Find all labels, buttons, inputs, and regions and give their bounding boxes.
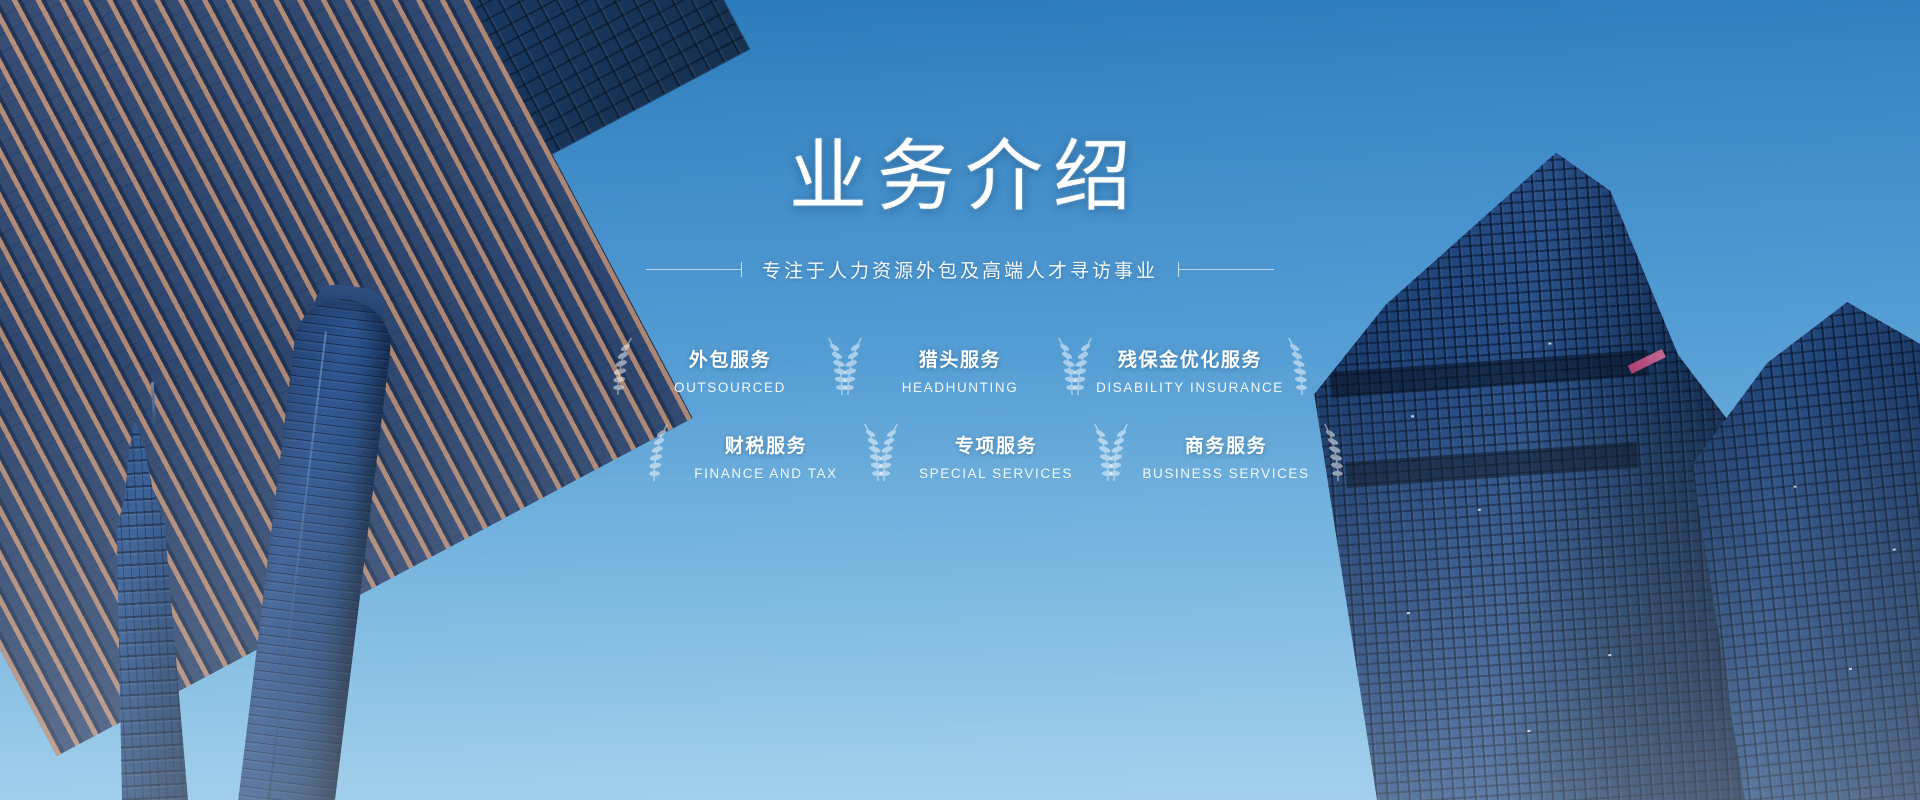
service-title-en: FINANCE AND TAX xyxy=(694,466,838,481)
service-title-en: DISABILITY INSURANCE xyxy=(1096,380,1284,395)
service-item-special-services[interactable]: 专项服务 SPECIAL SERVICES xyxy=(881,413,1111,499)
service-item-headhunting[interactable]: 猎头服务 HEADHUNTING xyxy=(845,327,1075,413)
service-item-finance-and-tax[interactable]: 财税服务 FINANCE AND TAX xyxy=(651,413,881,499)
laurel-branch-icon xyxy=(611,337,637,404)
service-title-en: BUSINESS SERVICES xyxy=(1142,466,1309,481)
rule-right xyxy=(1178,262,1274,277)
service-item-outsourced[interactable]: 外包服务 OUTSOURCED xyxy=(615,327,845,413)
service-title-cn: 猎头服务 xyxy=(919,345,1001,372)
service-title-en: HEADHUNTING xyxy=(902,380,1019,395)
service-title-en: SPECIAL SERVICES xyxy=(919,466,1073,481)
rule-left xyxy=(646,262,742,277)
service-item-business-services[interactable]: 商务服务 BUSINESS SERVICES xyxy=(1111,413,1341,499)
page-subtitle: 专注于人力资源外包及高端人才寻访事业 xyxy=(742,256,1178,283)
laurel-branch-icon xyxy=(1107,423,1133,490)
service-title-cn: 残保金优化服务 xyxy=(1118,345,1262,372)
laurel-branch-icon xyxy=(877,423,903,490)
service-title-cn: 外包服务 xyxy=(689,345,771,372)
service-title-cn: 专项服务 xyxy=(955,431,1037,458)
business-intro-banner: 业务介绍 专注于人力资源外包及高端人才寻访事业 xyxy=(0,0,1920,800)
page-title: 业务介绍 xyxy=(779,137,1141,215)
service-title-cn: 商务服务 xyxy=(1185,431,1267,458)
laurel-branch-icon xyxy=(1319,423,1345,490)
laurel-branch-icon xyxy=(841,337,867,404)
subtitle-row: 专注于人力资源外包及高端人才寻访事业 xyxy=(646,256,1274,283)
laurel-branch-icon xyxy=(1071,337,1097,404)
service-title-en: OUTSOURCED xyxy=(674,380,786,395)
laurel-branch-icon xyxy=(647,423,673,490)
laurel-branch-icon xyxy=(1283,337,1309,404)
service-list: 外包服务 OUTSOURCED xyxy=(615,327,1305,499)
service-title-cn: 财税服务 xyxy=(725,431,807,458)
service-item-disability-insurance[interactable]: 残保金优化服务 DISABILITY INSURANCE xyxy=(1075,327,1305,413)
